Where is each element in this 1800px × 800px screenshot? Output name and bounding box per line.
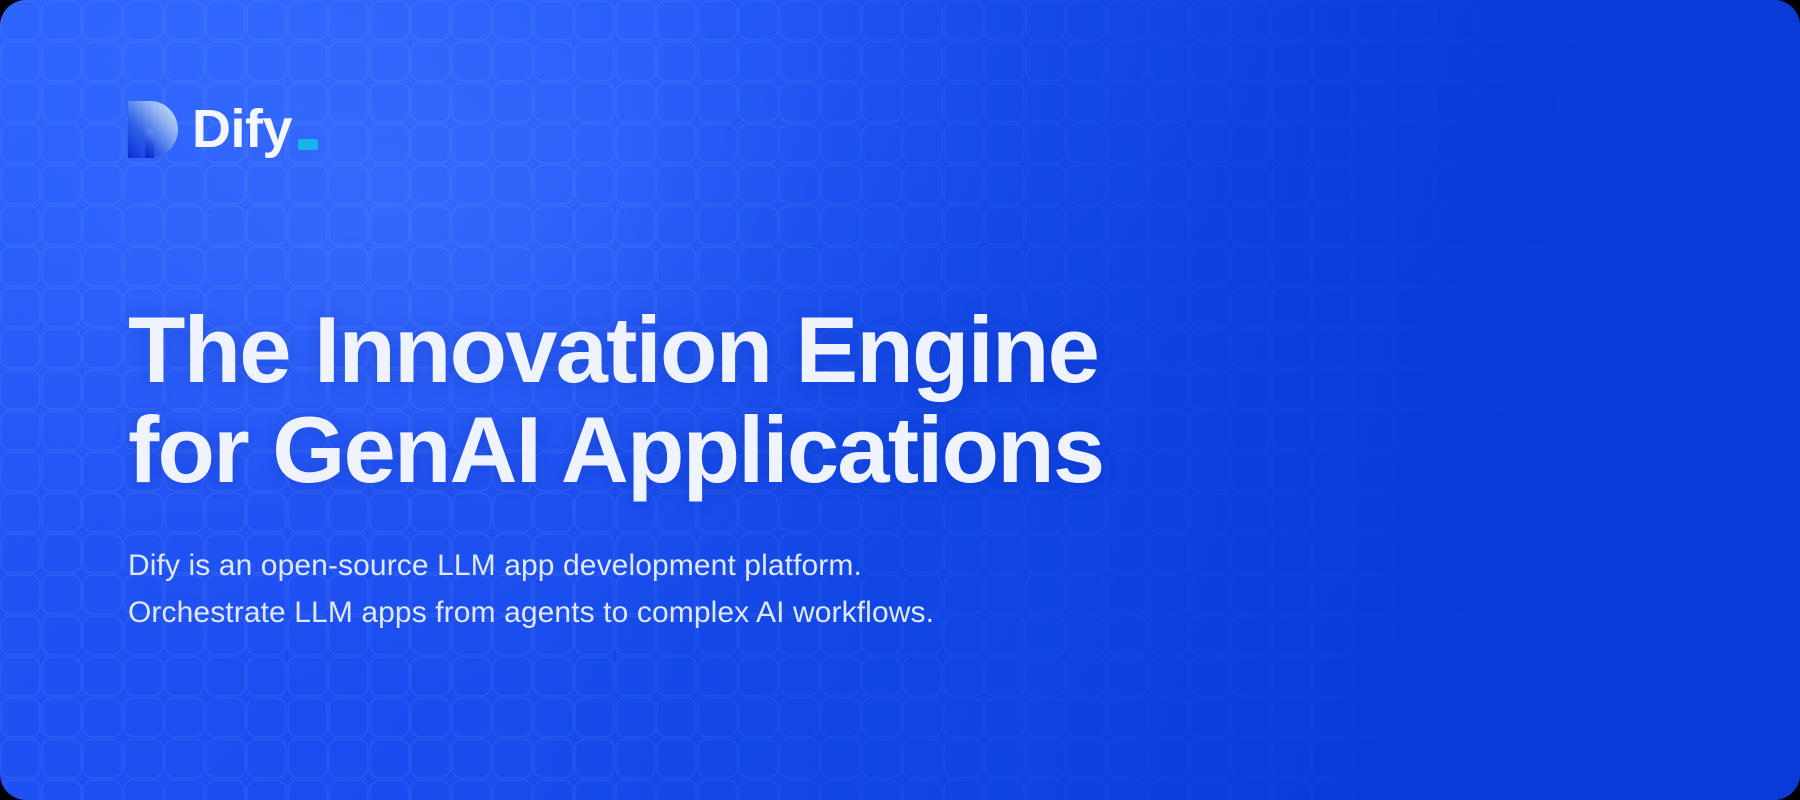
- brand-wordmark-wrap: Dify: [192, 102, 292, 156]
- dify-hero-banner: Dify The Innovation Engine for GenAI App…: [0, 0, 1800, 800]
- brand-wordmark: Dify: [192, 102, 292, 156]
- headline-line-2: for GenAI Applications: [128, 400, 1103, 500]
- dify-d-mark-icon: [128, 101, 178, 158]
- headline-line-1: The Innovation Engine: [128, 300, 1103, 400]
- brand-logo-lockup[interactable]: Dify: [128, 96, 292, 162]
- cyan-underscore-accent-icon: [298, 139, 318, 150]
- subtitle-line-1: Dify is an open-source LLM app developme…: [128, 542, 934, 589]
- page-title: The Innovation Engine for GenAI Applicat…: [128, 300, 1103, 499]
- subtitle-line-2: Orchestrate LLM apps from agents to comp…: [128, 589, 934, 636]
- page-subtitle: Dify is an open-source LLM app developme…: [128, 542, 934, 637]
- hero-content: Dify The Innovation Engine for GenAI App…: [0, 0, 1800, 800]
